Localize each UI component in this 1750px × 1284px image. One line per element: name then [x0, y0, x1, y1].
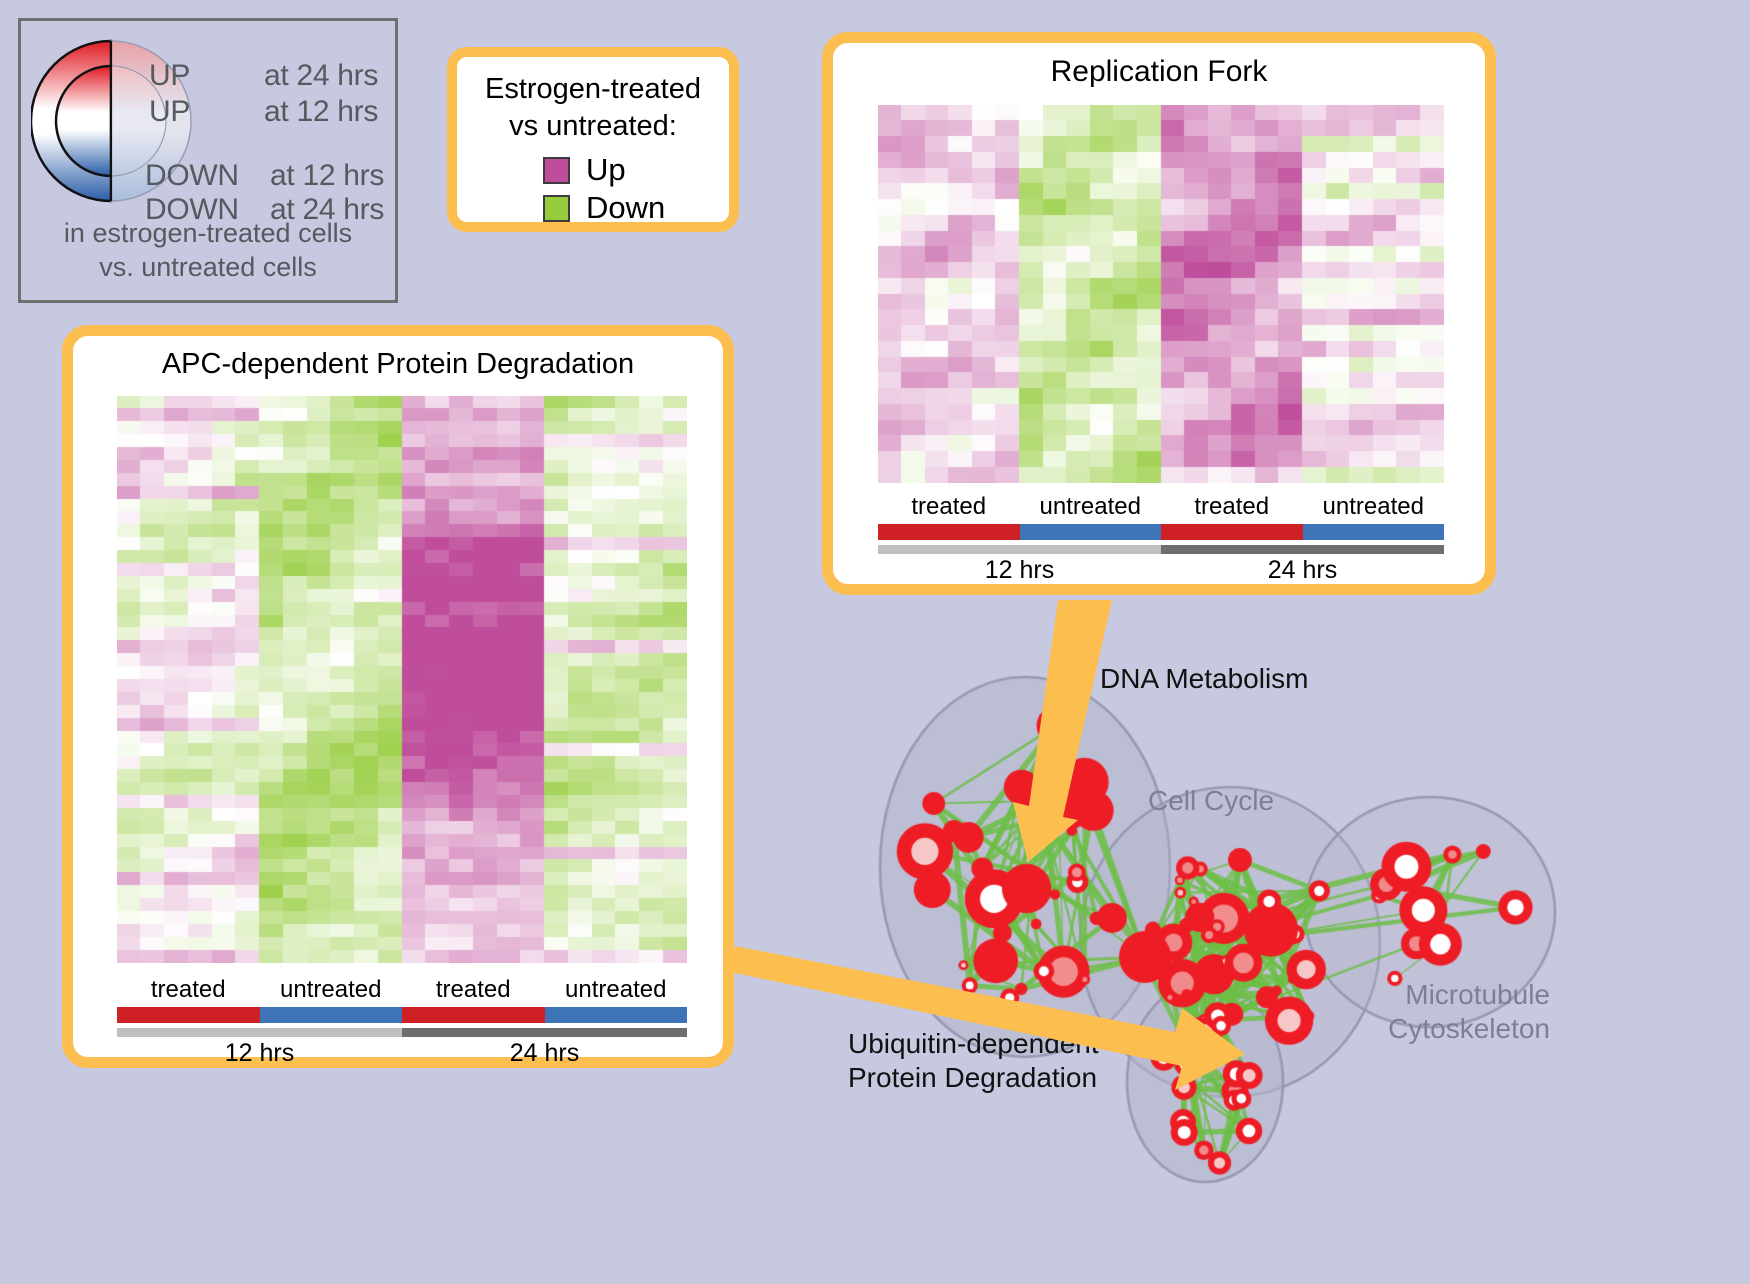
time-label-24: 24 hrs [402, 1039, 687, 1068]
cond-seg-treated-12 [117, 1007, 260, 1023]
apc-time-names: 12 hrs 24 hrs [117, 1039, 687, 1068]
cluster-label-cell-cycle: Cell Cycle [1148, 784, 1274, 818]
cond-seg-untreated-12 [1020, 524, 1162, 540]
cond-seg-untreated-24 [1303, 524, 1445, 540]
apc-sample-annotations: treated untreated treated untreated 12 h… [117, 976, 687, 1068]
cond-seg-untreated-24 [545, 1007, 688, 1023]
time-label-12: 12 hrs [117, 1039, 402, 1068]
time-seg-12 [117, 1028, 402, 1037]
heatmap-apc-degradation [117, 396, 687, 963]
legend-footnote-line2: vs. untreated cells [21, 250, 395, 284]
sample-group-3: untreated [1303, 493, 1445, 521]
network-diagram: DNA Metabolism Cell Cycle Microtubule Cy… [790, 612, 1750, 1279]
panel-apc-degradation: APC-dependent Protein Degradation treate… [62, 325, 734, 1068]
network-canvas [790, 612, 1750, 1279]
panel-replication-fork: Replication Fork treated untreated treat… [822, 32, 1496, 595]
time-label-24: 24 hrs [1161, 556, 1444, 585]
replication-condition-bar [878, 524, 1444, 540]
replication-time-bar [878, 545, 1444, 554]
legend-footnote-line1: in estrogen-treated cells [21, 216, 395, 250]
sample-group-3: untreated [545, 976, 688, 1004]
panel-apc-title: APC-dependent Protein Degradation [73, 348, 723, 381]
legend-key-label-up: Up [586, 152, 626, 188]
legend-key-label-down: Down [586, 190, 665, 226]
replication-sample-annotations: treated untreated treated untreated 12 h… [878, 493, 1444, 585]
sample-group-2: treated [402, 976, 545, 1004]
legend-updown-box: Estrogen-treated vs untreated: Up Down [447, 47, 739, 232]
sample-group-0: treated [878, 493, 1020, 521]
cluster-label-microtubule-cytoskeleton: Microtubule Cytoskeleton [1376, 978, 1550, 1046]
panel-replication-title: Replication Fork [833, 55, 1485, 89]
down-color-swatch [543, 195, 570, 222]
cond-seg-treated-24 [1161, 524, 1303, 540]
apc-condition-bar [117, 1007, 687, 1023]
cond-seg-treated-12 [878, 524, 1020, 540]
legend-key-item-down: Down [543, 189, 729, 227]
legend-footnote: in estrogen-treated cells vs. untreated … [21, 216, 395, 284]
legend-key-title-line1: Estrogen-treated [457, 71, 729, 108]
figure-canvas: UP at 24 hrs UP at 12 hrs DOWN at 12 hrs… [0, 0, 1750, 1279]
legend-gradient-box: UP at 24 hrs UP at 12 hrs DOWN at 12 hrs… [18, 18, 398, 303]
cluster-label-dna-metabolism: DNA Metabolism [1100, 662, 1309, 696]
replication-sample-names: treated untreated treated untreated [878, 493, 1444, 521]
sample-group-1: untreated [260, 976, 403, 1004]
time-seg-24 [1161, 545, 1444, 554]
legend-row-2-time: at 12 hrs [270, 159, 384, 193]
legend-row-2-label: DOWN [145, 159, 239, 193]
sample-group-0: treated [117, 976, 260, 1004]
cond-seg-untreated-12 [260, 1007, 403, 1023]
legend-key-item-up: Up [543, 151, 729, 189]
legend-row-1-time: at 12 hrs [264, 95, 378, 129]
time-seg-24 [402, 1028, 687, 1037]
legend-row-0-label: UP [149, 59, 190, 93]
legend-key-rows: Up Down [457, 151, 729, 227]
up-color-swatch [543, 157, 570, 184]
sample-group-2: treated [1161, 493, 1303, 521]
sample-group-1: untreated [1020, 493, 1162, 521]
cluster-label-ubiquitin-degradation: Ubiquitin-dependent Protein Degradation [848, 1027, 1099, 1095]
time-label-12: 12 hrs [878, 556, 1161, 585]
legend-key-title-line2: vs untreated: [457, 108, 729, 145]
cond-seg-treated-24 [402, 1007, 545, 1023]
time-seg-12 [878, 545, 1161, 554]
apc-sample-names: treated untreated treated untreated [117, 976, 687, 1004]
replication-time-names: 12 hrs 24 hrs [878, 556, 1444, 585]
legend-row-1-label: UP [149, 95, 190, 129]
legend-key-title: Estrogen-treated vs untreated: [457, 71, 729, 145]
heatmap-replication-fork [878, 105, 1444, 483]
legend-row-0-time: at 24 hrs [264, 59, 378, 93]
apc-time-bar [117, 1028, 687, 1037]
